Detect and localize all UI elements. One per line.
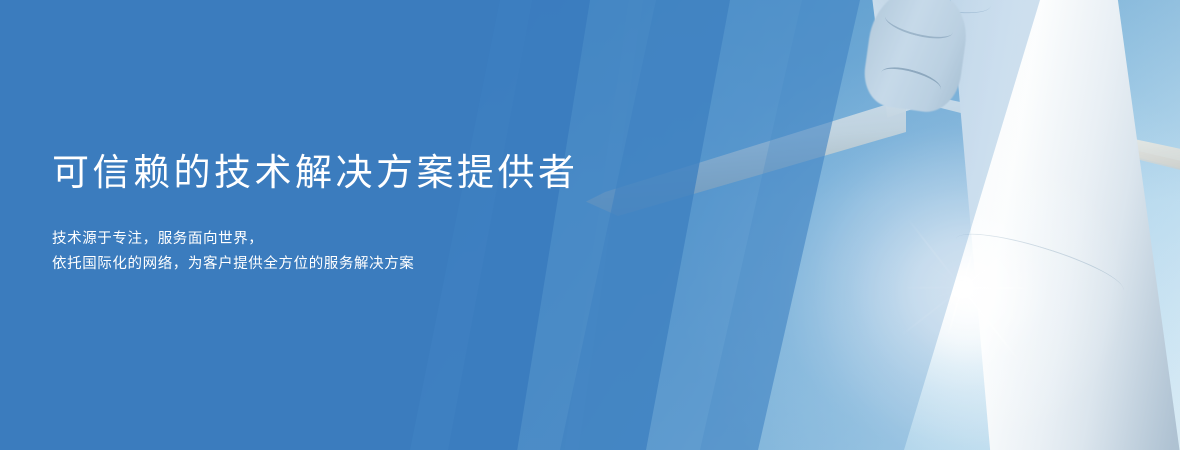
hero-subtitle: 技术源于专注，服务面向世界， 依托国际化的网络，为客户提供全方位的服务解决方案 (52, 227, 672, 277)
hero-subtitle-line-2: 依托国际化的网络，为客户提供全方位的服务解决方案 (52, 252, 672, 277)
hero-banner: 可信赖的技术解决方案提供者 技术源于专注，服务面向世界， 依托国际化的网络，为客… (0, 0, 1180, 450)
hero-headline: 可信赖的技术解决方案提供者 (52, 150, 672, 196)
sun-flare-icon (955, 280, 969, 294)
hero-copy: 可信赖的技术解决方案提供者 技术源于专注，服务面向世界， 依托国际化的网络，为客… (52, 150, 672, 277)
hero-subtitle-line-1: 技术源于专注，服务面向世界， (52, 227, 672, 252)
